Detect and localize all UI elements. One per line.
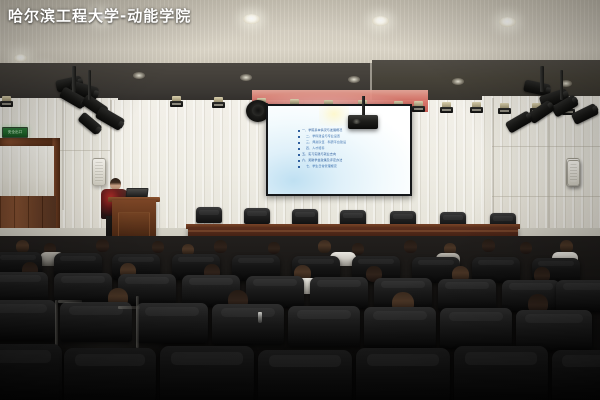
seat-support-leg <box>55 300 58 346</box>
audience-head <box>152 241 164 253</box>
auditorium-seat <box>438 279 496 311</box>
seat-support-leg <box>136 296 139 348</box>
auditorium-seat <box>364 307 436 347</box>
auditorium-seat <box>516 310 592 350</box>
truss-pole <box>88 70 91 100</box>
slide-bullet-line: 三、师资队伍 · 科研平台建设 <box>298 140 402 144</box>
wall-horizontal-joint <box>492 196 600 197</box>
projection-screen-surface: 一、学院基本情况与发展概况二、学科建设与专业设置三、师资队伍 · 科研平台建设四… <box>268 106 410 194</box>
stage-light-fixture <box>470 102 483 113</box>
slide-bullet-text: 二、学科建设与专业设置 <box>306 134 402 138</box>
slide-bullet-text: 六、奖助学金政策及评定办法 <box>302 158 402 162</box>
lecture-hall-photo: 安全出口 一、学院基本 <box>0 0 600 400</box>
door-panel-texture <box>0 146 54 198</box>
audience-head <box>404 240 417 253</box>
stage-light-fixture <box>170 96 183 107</box>
stage-light-fixture <box>0 96 13 107</box>
wall-speaker-left <box>92 158 106 186</box>
slide-bullet-icon <box>298 154 300 156</box>
slide-content: 一、学院基本情况与发展概况二、学科建设与专业设置三、师资队伍 · 科研平台建设四… <box>298 128 402 170</box>
auditorium-seat <box>310 277 368 309</box>
slide-bullet-text: 三、师资队伍 · 科研平台建设 <box>306 140 402 144</box>
watermark-title: 哈尔滨工程大学-动能学院 <box>8 7 191 25</box>
slide-bullet-icon <box>298 148 300 150</box>
auditorium-seat-front <box>0 344 62 400</box>
soffit-light-reflection <box>452 78 464 85</box>
soffit-light-reflection <box>133 72 145 79</box>
audience-head <box>482 239 495 252</box>
slide-bullet-text: 五、实习实践与就业去向 <box>302 152 402 156</box>
wall-joint <box>62 100 64 210</box>
slide-bullet-line: 六、奖助学金政策及评定办法 <box>298 158 402 162</box>
slide-bullet-icon <box>298 136 300 138</box>
slide-bullet-icon <box>298 166 300 168</box>
ceiling-downlight <box>243 14 260 24</box>
ceiling-downlight <box>499 17 516 27</box>
auditorium-seat-front <box>258 350 352 400</box>
wall-joint <box>548 98 550 248</box>
stage-light-fixture <box>440 102 453 113</box>
stage-light-fixture <box>412 101 425 112</box>
auditorium-seat <box>212 304 284 344</box>
stage-light-fixture <box>498 103 511 114</box>
head-table-chair <box>292 209 318 225</box>
audience-head <box>268 242 280 254</box>
seat-support-rail <box>118 306 140 309</box>
slide-bullet-text: 四、人才培养 <box>306 146 402 150</box>
stage-light-fixture <box>212 97 225 108</box>
auditorium-seat-front <box>356 348 450 400</box>
audience-head <box>520 242 532 254</box>
auditorium-seat <box>440 308 512 348</box>
projection-screen: 一、学院基本情况与发展概况二、学科建设与专业设置三、师资队伍 · 科研平台建设四… <box>266 104 412 196</box>
slide-bullet-icon <box>298 160 300 162</box>
head-table-chair <box>196 207 222 223</box>
seat-support-rail <box>58 300 82 303</box>
wall-speaker-right-inner <box>567 160 580 186</box>
auditorium-seat-front <box>552 350 600 400</box>
slide-bullet-line: 七、学生日常管理规定 <box>298 164 402 168</box>
auditorium-seat <box>556 280 600 312</box>
ceiling-projector <box>348 115 378 129</box>
auditorium-seat <box>0 300 56 340</box>
truss-pole <box>540 66 544 92</box>
slide-bullet-line: 二、学科建设与专业设置 <box>298 134 402 138</box>
slide-bullet-text: 七、学生日常管理规定 <box>306 164 402 168</box>
audience-head <box>96 239 109 252</box>
auditorium-seat-front <box>64 348 156 400</box>
audience-head <box>318 240 331 253</box>
slide-bullet-line: 五、实习实践与就业去向 <box>298 152 402 156</box>
slide-bullet-line: 四、人才培养 <box>298 146 402 150</box>
audience-head <box>214 240 227 253</box>
exit-sign-label: 安全出口 <box>4 128 26 135</box>
podium-front-panel <box>118 212 150 238</box>
slide-bullet-icon <box>298 142 300 144</box>
truss-pole <box>72 66 76 92</box>
door-header-left <box>0 138 58 146</box>
ceiling-downlight <box>14 54 27 62</box>
exit-sign: 安全出口 <box>2 127 28 138</box>
soffit-light-reflection <box>348 76 360 83</box>
head-table-chair <box>244 208 270 224</box>
ceiling-downlight <box>372 16 389 26</box>
auditorium-seat <box>288 306 360 346</box>
door-panel-left[interactable] <box>0 146 54 198</box>
soffit-light-reflection <box>240 74 252 81</box>
auditorium-seat-front <box>454 346 548 400</box>
truss-pole <box>560 70 563 100</box>
slide-bullet-icon <box>298 130 300 132</box>
wall-horizontal-joint <box>492 146 600 147</box>
projector-hotspot <box>319 106 349 126</box>
auditorium-seat <box>136 303 208 343</box>
water-bottle <box>258 312 262 323</box>
auditorium-seat-front <box>160 346 254 400</box>
